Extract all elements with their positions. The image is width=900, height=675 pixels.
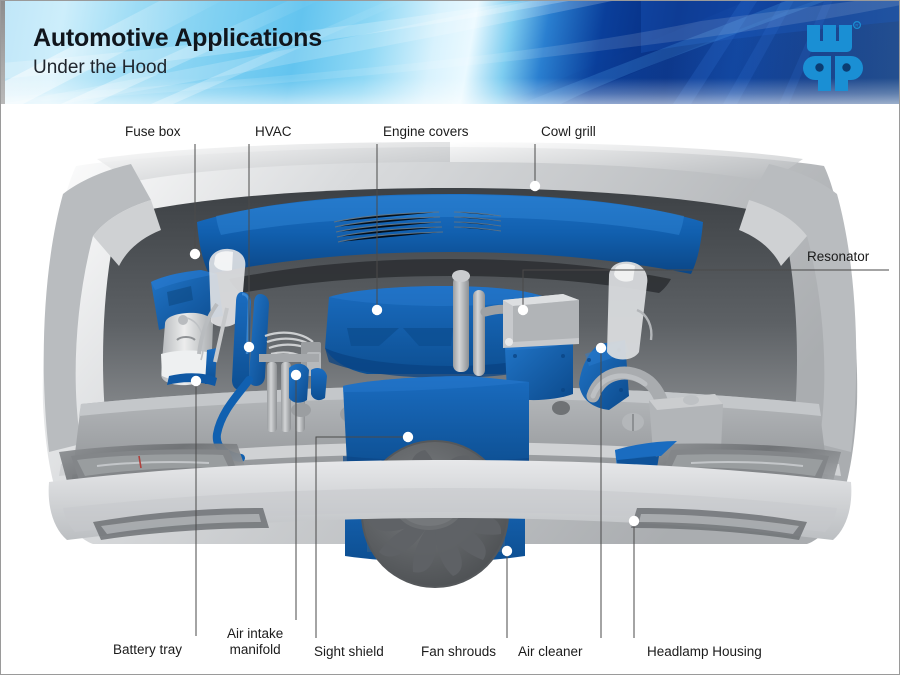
slide-header: Automotive Applications Under the Hood R bbox=[1, 1, 900, 104]
header-bottom-fade bbox=[1, 78, 900, 104]
callout-label-battery-tray: Battery tray bbox=[113, 642, 182, 658]
slide: Automotive Applications Under the Hood R bbox=[0, 0, 900, 675]
callout-label-resonator: Resonator bbox=[807, 249, 869, 265]
callout-label-sight-shield: Sight shield bbox=[314, 644, 384, 660]
callout-label-hvac: HVAC bbox=[255, 124, 292, 140]
callout-label-fuse-box: Fuse box bbox=[125, 124, 181, 140]
diagram-canvas: Fuse boxHVACEngine coversCowl grillReson… bbox=[1, 104, 899, 674]
callout-label-air-cleaner: Air cleaner bbox=[518, 644, 583, 660]
callout-label-air-intake-manifold: Air intakemanifold bbox=[227, 626, 283, 658]
wpp-logo-icon: R bbox=[797, 15, 869, 91]
title-block: Automotive Applications Under the Hood bbox=[33, 23, 322, 81]
callout-label-cowl-grill: Cowl grill bbox=[541, 124, 596, 140]
page-subtitle: Under the Hood bbox=[33, 55, 322, 81]
header-left-edge bbox=[1, 1, 5, 104]
callout-label-engine-covers: Engine covers bbox=[383, 124, 469, 140]
engine-bay-illustration bbox=[1, 104, 899, 674]
callout-label-headlamp-housing: Headlamp Housing bbox=[647, 644, 762, 660]
page-title: Automotive Applications bbox=[33, 23, 322, 53]
callout-label-fan-shrouds: Fan shrouds bbox=[421, 644, 496, 660]
wpp-logo[interactable]: R bbox=[797, 15, 869, 91]
svg-text:R: R bbox=[855, 23, 858, 28]
